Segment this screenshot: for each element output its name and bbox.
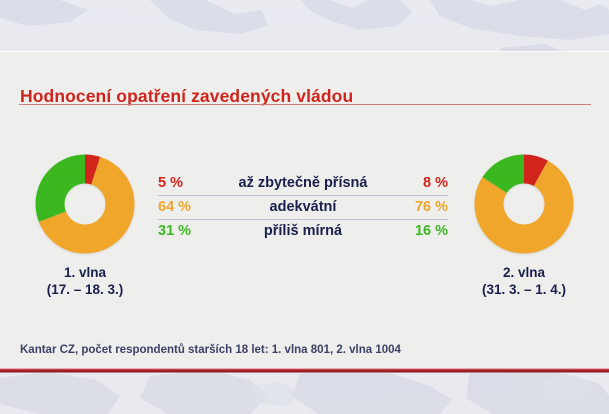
legend-label-adequate: adekvátní [210,196,396,220]
legend-label-mild: příliš mírná [210,220,396,244]
legend-value-left-adequate: 64 % [158,196,210,220]
legend-row-adequate: 64 % adekvátní 76 % [158,196,448,220]
donut-chart-wave-1 [33,152,137,256]
legend-value-right-strict: 8 % [396,172,448,196]
legend-row-strict: 5 % až zbytečně přísná 8 % [158,172,448,196]
legend-value-left-mild: 31 % [158,220,210,244]
chart-wave-2: 2. vlna (31. 3. – 1. 4.) [449,152,599,298]
donut-chart-wave-2 [472,152,576,256]
chart-caption-line2: (17. – 18. 3.) [10,281,160,298]
content-card: Hodnocení opatření zavedených vládou 1. … [0,52,609,368]
chart-caption-line1: 1. vlna [10,264,160,281]
chart-caption-wave-1: 1. vlna (17. – 18. 3.) [10,264,160,298]
chart-wave-1: 1. vlna (17. – 18. 3.) [10,152,160,298]
infographic-canvas: Hodnocení opatření zavedených vládou 1. … [0,0,609,414]
chart-caption-line2: (31. 3. – 1. 4.) [449,281,599,298]
chart-caption-line1: 2. vlna [449,264,599,281]
chart-caption-wave-2: 2. vlna (31. 3. – 1. 4.) [449,264,599,298]
source-note: Kantar CZ, počet respondentů starších 18… [20,344,401,356]
accent-bar [0,368,609,373]
legend-value-right-adequate: 76 % [396,196,448,220]
legend-row-mild: 31 % příliš mírná 16 % [158,220,448,244]
legend-value-left-strict: 5 % [158,172,210,196]
title-divider [19,104,591,105]
legend-table: 5 % až zbytečně přísná 8 % 64 % adekvátn… [158,172,448,243]
legend-value-right-mild: 16 % [396,220,448,244]
legend-label-strict: až zbytečně přísná [210,172,396,196]
